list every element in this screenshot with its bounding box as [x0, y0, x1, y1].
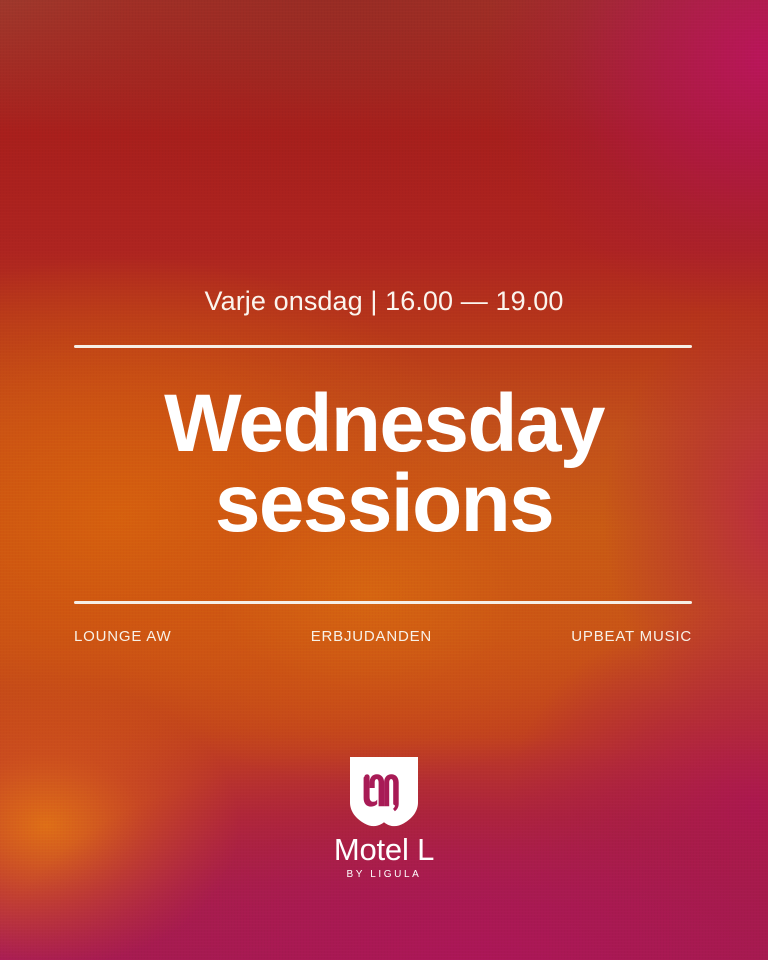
feature-tag-music: UPBEAT MUSIC	[571, 628, 692, 645]
page-title-line-1: Wednesday	[0, 384, 768, 464]
brand-wordmark: Motel L	[334, 834, 434, 865]
page-title: Wednesday sessions	[0, 384, 768, 545]
feature-tag-offers: ERBJUDANDEN	[311, 628, 432, 645]
feature-tag-lounge: LOUNGE AW	[74, 628, 172, 645]
promo-poster: Varje onsdag | 16.00 — 19.00 Wednesday s…	[0, 0, 768, 960]
feature-tag-row: LOUNGE AW ERBJUDANDEN UPBEAT MUSIC	[74, 628, 692, 645]
brand-logo: Motel L BY LIGULA	[0, 755, 768, 880]
brand-subline: BY LIGULA	[347, 870, 422, 880]
motel-l-shield-icon	[348, 755, 420, 828]
event-schedule-text: Varje onsdag | 16.00 — 19.00	[0, 286, 768, 317]
divider-top	[74, 345, 692, 348]
divider-bottom	[74, 601, 692, 604]
page-title-line-2: sessions	[0, 464, 768, 544]
